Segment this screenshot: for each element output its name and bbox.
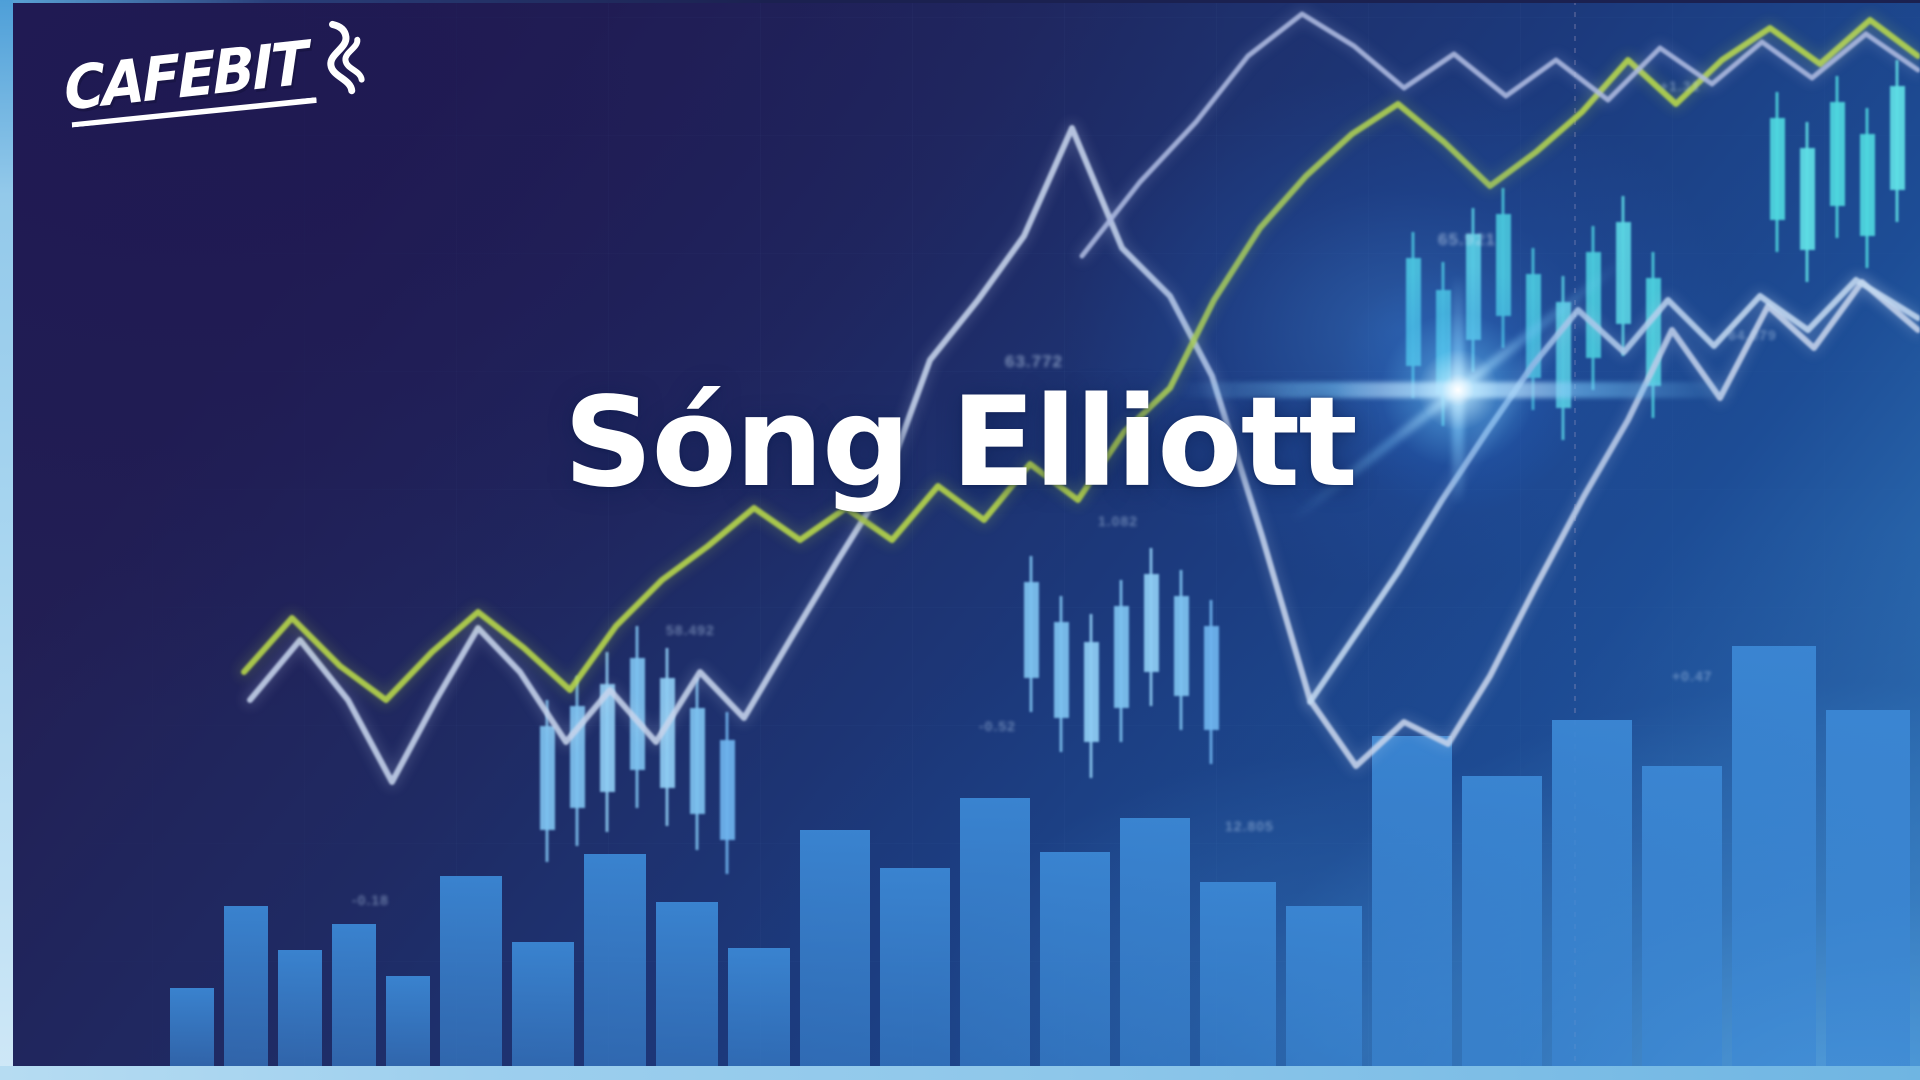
trend-line xyxy=(244,20,1918,700)
trend-line-glow xyxy=(244,20,1918,700)
steam-curl-icon xyxy=(314,17,368,100)
trend-line xyxy=(250,128,1918,782)
banner-root: 63.77265.92164.07912.80558.4921.082-0.52… xyxy=(0,0,1920,1080)
trend-lines-layer xyxy=(0,0,1920,1080)
trend-line-glow xyxy=(250,128,1918,782)
trend-line xyxy=(1310,280,1918,702)
